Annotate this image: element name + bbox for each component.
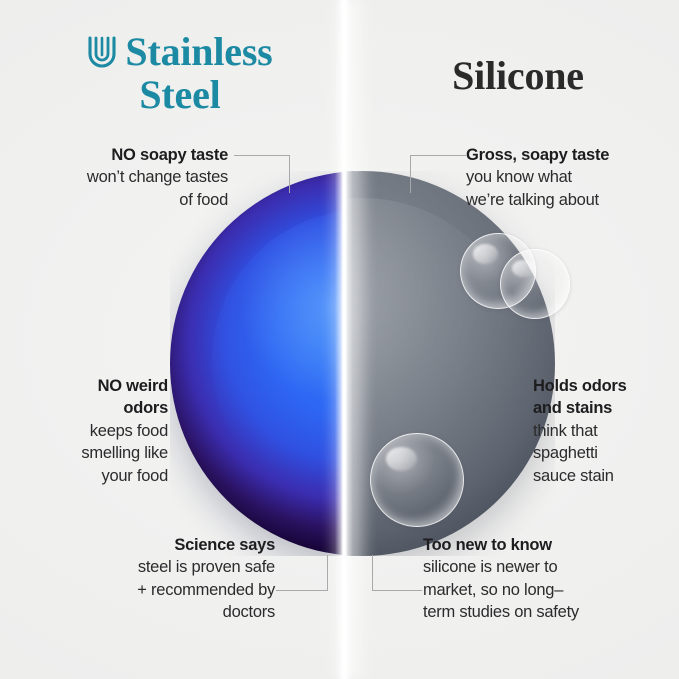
header-silicone: Silicone [398,54,638,97]
callout-body-line: you know what [466,166,678,188]
callout-headline: NO soapy taste [10,144,228,166]
callout-body-line: won’t change tastes [10,166,228,188]
soap-bubble-icon [500,249,570,319]
callout-body-line: doctors [10,601,275,623]
header-left-line1: Stainless [125,30,272,73]
callout-science-says: Science says steel is proven safe + reco… [10,534,275,624]
header-left-line2: Steel [46,73,314,116]
vertical-divider [335,0,353,679]
callout-body-line: we’re talking about [466,189,678,211]
callout-no-soapy-taste: NO soapy taste won’t change tastes of fo… [10,144,228,211]
callout-headline: and stains [533,397,678,419]
callout-body-line: think that [533,420,678,442]
connector-line-top-right [410,155,466,193]
comparison-infographic: Stainless Steel Silicone NO soapy taste … [0,0,679,679]
callout-body-line: of food [10,189,228,211]
connector-line-bottom-right [372,555,422,591]
header-right-title: Silicone [452,53,584,98]
callout-body-line: + recommended by [10,579,275,601]
callout-body-line: sauce stain [533,465,678,487]
nested-u-logo-icon [87,35,117,69]
callout-body-line: spaghetti [533,442,678,464]
callout-body-line: smelling like [10,442,168,464]
callout-body-line: market, so no long– [423,579,679,601]
callout-body-line: your food [10,465,168,487]
callout-body-line: silicone is newer to [423,556,679,578]
callout-headline: odors [10,397,168,419]
callout-body-line: term studies on safety [423,601,679,623]
callout-too-new-to-know: Too new to know silicone is newer to mar… [423,534,679,624]
callout-holds-odors-and-stains: Holds odors and stains think that spaghe… [533,375,678,487]
callout-body-line: keeps food [10,420,168,442]
header-stainless-steel: Stainless Steel [46,30,314,116]
connector-line-top-left [234,155,290,193]
soap-bubble-icon [370,433,464,527]
callout-headline: NO weird [10,375,168,397]
connector-line-bottom-left [276,555,328,591]
callout-headline: Science says [10,534,275,556]
callout-headline: Holds odors [533,375,678,397]
callout-no-weird-odors: NO weird odors keeps food smelling like … [10,375,168,487]
callout-headline: Too new to know [423,534,679,556]
callout-gross-soapy-taste: Gross, soapy taste you know what we’re t… [466,144,678,211]
callout-body-line: steel is proven safe [10,556,275,578]
brand-line: Stainless [46,30,314,73]
callout-headline: Gross, soapy taste [466,144,678,166]
